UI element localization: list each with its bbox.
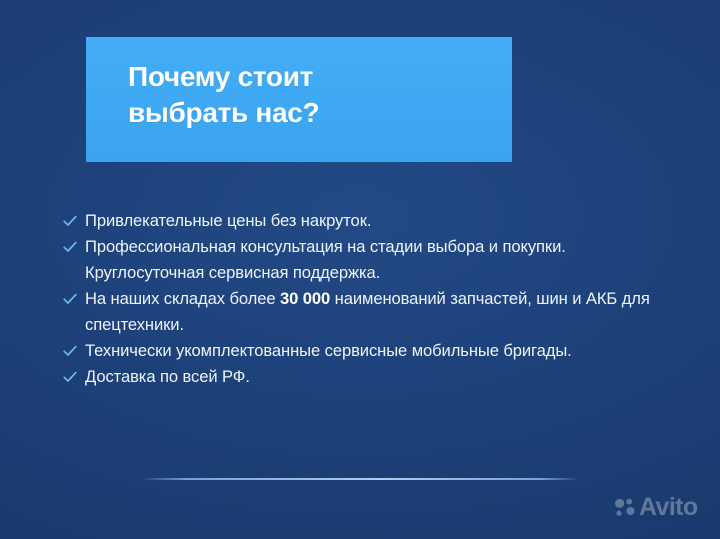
avito-wordmark: Avito — [639, 495, 698, 520]
check-icon — [63, 208, 85, 227]
list-item-label: Привлекательные цены без накруток. — [85, 208, 663, 233]
avito-watermark: Avito — [614, 495, 698, 520]
list-item-label: На наших складах более 30 000 наименован… — [85, 286, 663, 337]
list-item: Технически укомплектованные сервисные мо… — [63, 338, 663, 363]
list-item: Привлекательные цены без накруток. — [63, 208, 663, 233]
benefits-list: Привлекательные цены без накруток.Профес… — [63, 208, 663, 391]
list-item-label: Доставка по всей РФ. — [85, 364, 663, 389]
check-icon — [63, 286, 85, 305]
title-banner: Почему стоит выбрать нас? — [86, 37, 512, 162]
page-title: Почему стоит выбрать нас? — [128, 59, 502, 132]
list-item-label: Технически укомплектованные сервисные мо… — [85, 338, 663, 363]
check-icon — [63, 338, 85, 357]
list-item: Доставка по всей РФ. — [63, 364, 663, 389]
avito-dots-icon — [614, 497, 636, 519]
list-item: Профессиональная консультация на стадии … — [63, 234, 663, 285]
check-icon — [63, 364, 85, 383]
slide-canvas: Почему стоит выбрать нас? Привлекательны… — [0, 0, 720, 539]
check-icon — [63, 234, 85, 253]
list-item: На наших складах более 30 000 наименован… — [63, 286, 663, 337]
list-item-label: Профессиональная консультация на стадии … — [85, 234, 663, 285]
divider — [145, 478, 575, 480]
